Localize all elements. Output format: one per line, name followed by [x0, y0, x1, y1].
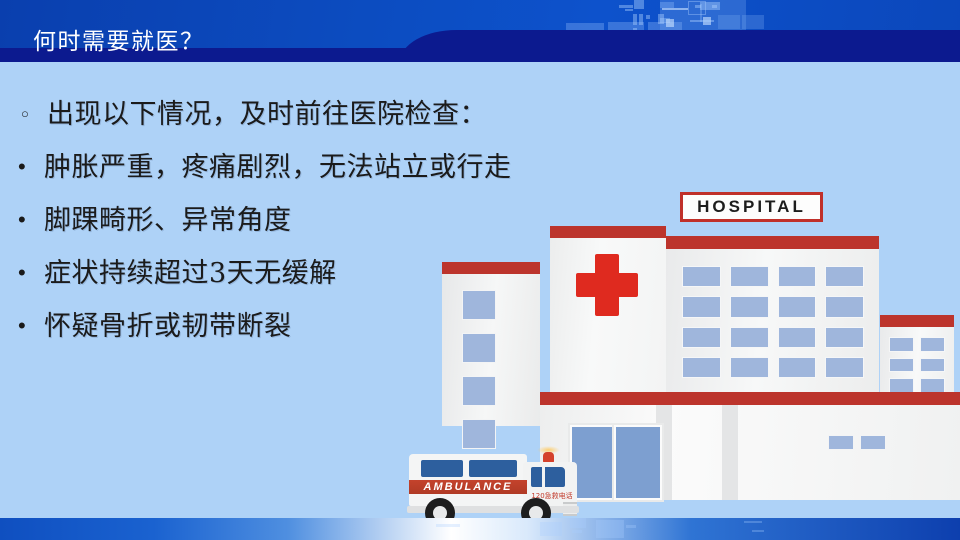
window [825, 296, 864, 317]
bullet-text: 怀疑骨折或韧带断裂 [44, 304, 292, 343]
bullet-marker-icon: ○ [18, 107, 47, 120]
podium-window [860, 435, 886, 450]
window [825, 266, 864, 287]
window [682, 296, 721, 317]
window [730, 296, 769, 317]
ambulance-cab-window [531, 467, 565, 487]
window [920, 378, 945, 393]
annex-roof [880, 315, 954, 327]
ambulance-window [469, 460, 517, 477]
slide-header: 何时需要就医？ [0, 0, 960, 62]
podium-roof [540, 392, 960, 405]
footer-deco-rect [596, 520, 624, 538]
window [730, 327, 769, 348]
window [682, 327, 721, 348]
window [825, 327, 864, 348]
slide-canvas: 何时需要就医？ ○ 出现以下情况，及时前往医院检查： • 肿胀严重，疼痛剧烈，无… [0, 0, 960, 540]
footer-deco-rect [752, 530, 764, 532]
page-title: 何时需要就医？ [33, 22, 205, 56]
left-wing-window [462, 376, 496, 406]
header-deco-rect [712, 5, 717, 8]
header-deco-rect [718, 15, 740, 29]
hospital-sign-text: HOSPITAL [697, 197, 806, 217]
footer-deco-rect [626, 525, 636, 528]
header-deco-rect [619, 5, 633, 8]
window [778, 266, 817, 287]
ambulance-label: AMBULANCE [409, 480, 527, 494]
main-block-roof [666, 236, 879, 249]
header-deco-rect [666, 19, 674, 27]
window [778, 327, 817, 348]
header-deco-outline [688, 1, 706, 15]
window [889, 358, 914, 373]
window [682, 357, 721, 378]
window [920, 358, 945, 373]
bullet-text: 症状持续超过3天无缓解 [44, 251, 337, 290]
bullet-marker-icon: • [18, 209, 44, 231]
header-deco-rect [662, 8, 688, 10]
center-tower-roof [550, 226, 666, 238]
ambulance-illustration: AMBULANCE 120急救电话 [403, 440, 589, 528]
footer-deco-rect [572, 530, 582, 533]
header-deco-rect [646, 15, 650, 19]
footer-deco-rect [540, 522, 562, 536]
hospital-sign: HOSPITAL [680, 192, 823, 222]
bullet-marker-icon: • [18, 315, 44, 337]
header-deco-rect [639, 14, 643, 25]
window [730, 357, 769, 378]
bullet-marker-icon: • [18, 262, 44, 284]
slide-footer [0, 518, 960, 540]
entrance-door [614, 425, 662, 500]
window [889, 378, 914, 393]
header-deco-rect [658, 14, 664, 24]
red-cross-icon [576, 273, 638, 297]
header-deco-rect [690, 20, 714, 22]
podium-column [722, 405, 738, 500]
window [682, 266, 721, 287]
header-deco-rect [633, 14, 637, 25]
left-wing-window [462, 333, 496, 363]
ambulance-cab-window-divider [542, 467, 545, 487]
left-wing-roof [442, 262, 540, 274]
footer-deco-rect [744, 521, 762, 523]
list-item: ○ 出现以下情况，及时前往医院检查： [18, 92, 618, 145]
bullet-text: 出现以下情况，及时前往医院检查： [47, 92, 487, 131]
left-wing-window [462, 290, 496, 320]
bullet-text: 脚踝畸形、异常角度 [44, 198, 292, 237]
footer-deco-rect [436, 524, 460, 527]
annex-window-grid [889, 337, 945, 393]
bullet-marker-icon: • [18, 156, 44, 178]
window [920, 337, 945, 352]
header-deco-rect [634, 0, 644, 9]
window [825, 357, 864, 378]
main-window-grid [682, 266, 864, 378]
footer-deco-rect [570, 518, 586, 528]
window [730, 266, 769, 287]
window [778, 296, 817, 317]
window [778, 357, 817, 378]
header-deco-rect [625, 9, 633, 11]
window [889, 337, 914, 352]
header-deco-rect [742, 15, 764, 29]
ambulance-window [421, 460, 463, 477]
podium-window [828, 435, 854, 450]
